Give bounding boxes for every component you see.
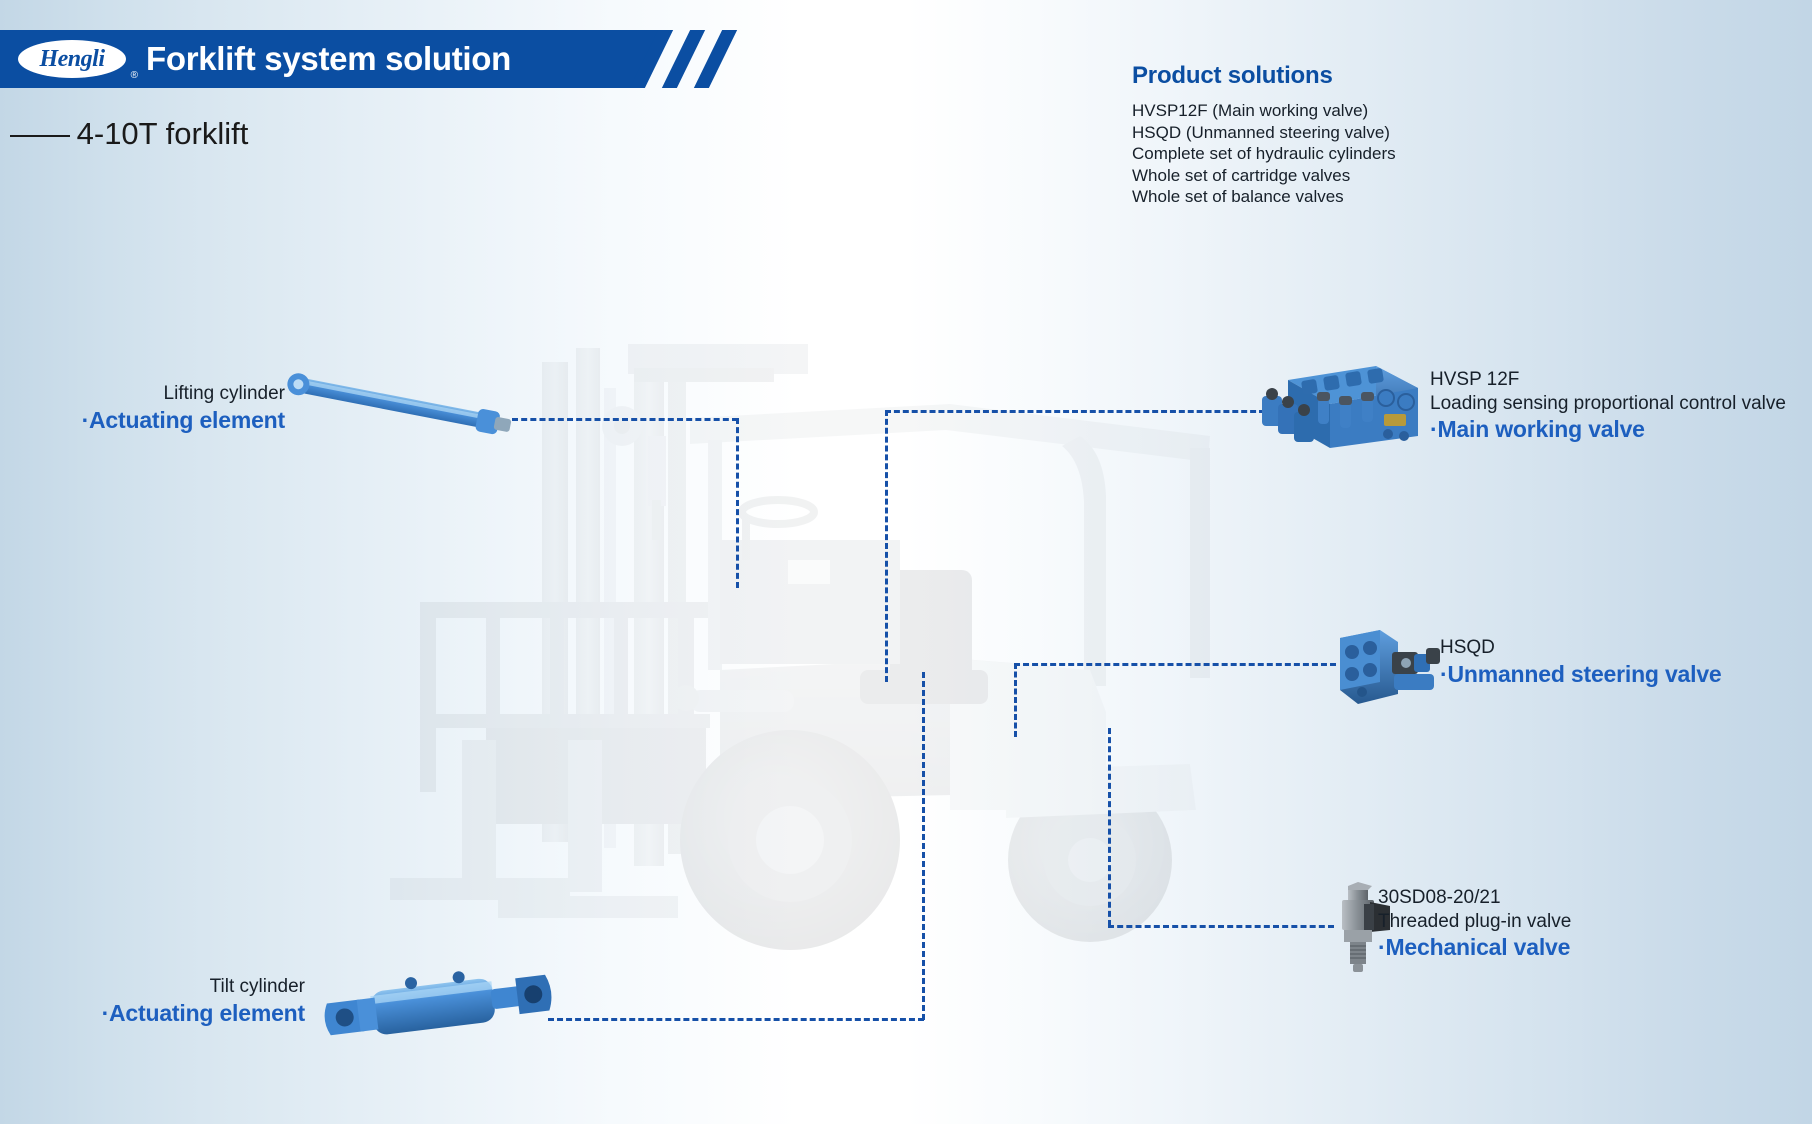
- tilt-cylinder-photo: [322, 960, 554, 1052]
- callout-mechanical-valve: 30SD08-20/21 Threaded plug-in valve ·Mec…: [1378, 886, 1571, 963]
- callout-hvsp12f-desc: Loading sensing proportional control val…: [1430, 392, 1786, 416]
- callout-tilt-cylinder: Tilt cylinder ·Actuating element: [30, 975, 305, 1028]
- hengli-logo: Hengli ®: [18, 40, 126, 78]
- leader-hvsp-vertical: [885, 410, 888, 682]
- list-item: Complete set of hydraulic cylinders: [1132, 143, 1396, 165]
- leader-lifting-cylinder-vertical: [736, 418, 739, 588]
- subtitle-text: 4-10T forklift: [77, 116, 249, 151]
- callout-hsqd: HSQD ·Unmanned steering valve: [1440, 636, 1722, 689]
- callout-lifting-cylinder-name: Lifting cylinder: [20, 382, 285, 406]
- list-item: Whole set of balance valves: [1132, 186, 1396, 208]
- callout-hsqd-accent: ·Unmanned steering valve: [1440, 660, 1722, 690]
- callout-tilt-cylinder-accent: ·Actuating element: [30, 999, 305, 1029]
- banner-slash-decoration: [636, 30, 756, 88]
- leader-tilt-vertical: [922, 672, 925, 1020]
- page-subtitle: —— 4-10T forklift: [10, 116, 248, 152]
- callout-mechanical-valve-accent: ·Mechanical valve: [1378, 933, 1571, 963]
- callout-lifting-cylinder: Lifting cylinder ·Actuating element: [20, 382, 285, 435]
- callout-tilt-cylinder-name: Tilt cylinder: [30, 975, 305, 999]
- callout-hvsp12f: HVSP 12F Loading sensing proportional co…: [1430, 368, 1786, 445]
- list-item: Whole set of cartridge valves: [1132, 165, 1396, 187]
- subtitle-dash: ——: [10, 116, 68, 151]
- callout-hsqd-model: HSQD: [1440, 636, 1722, 660]
- leader-tilt-horizontal: [548, 1018, 924, 1021]
- list-item: HVSP12F (Main working valve): [1132, 100, 1396, 122]
- product-solutions-panel: Product solutions HVSP12F (Main working …: [1132, 62, 1396, 208]
- callout-mechanical-valve-desc: Threaded plug-in valve: [1378, 910, 1571, 934]
- leader-hvsp-horizontal: [885, 410, 1265, 413]
- steering-valve-photo: [1336, 624, 1444, 710]
- callout-hvsp12f-accent: ·Main working valve: [1430, 415, 1786, 445]
- callout-mechanical-valve-model: 30SD08-20/21: [1378, 886, 1571, 910]
- leader-hsqd-vertical: [1014, 663, 1017, 737]
- leader-hsqd-horizontal: [1014, 663, 1336, 666]
- logo-text: Hengli: [39, 46, 104, 73]
- lifting-cylinder-photo: [280, 372, 530, 442]
- leader-lifting-cylinder-horizontal: [512, 418, 738, 421]
- valve-block-photo: [1258, 358, 1424, 474]
- callout-lifting-cylinder-accent: ·Actuating element: [20, 406, 285, 436]
- product-solutions-heading: Product solutions: [1132, 62, 1396, 90]
- leader-mechanical-horizontal: [1108, 925, 1334, 928]
- header-banner: Hengli ® Forklift system solution: [0, 30, 660, 88]
- callout-hvsp12f-model: HVSP 12F: [1430, 368, 1786, 392]
- list-item: HSQD (Unmanned steering valve): [1132, 122, 1396, 144]
- page-title: Forklift system solution: [146, 40, 511, 78]
- leader-mechanical-vertical: [1108, 728, 1111, 926]
- registered-mark-icon: ®: [131, 70, 138, 81]
- product-solutions-list: HVSP12F (Main working valve) HSQD (Unman…: [1132, 100, 1396, 208]
